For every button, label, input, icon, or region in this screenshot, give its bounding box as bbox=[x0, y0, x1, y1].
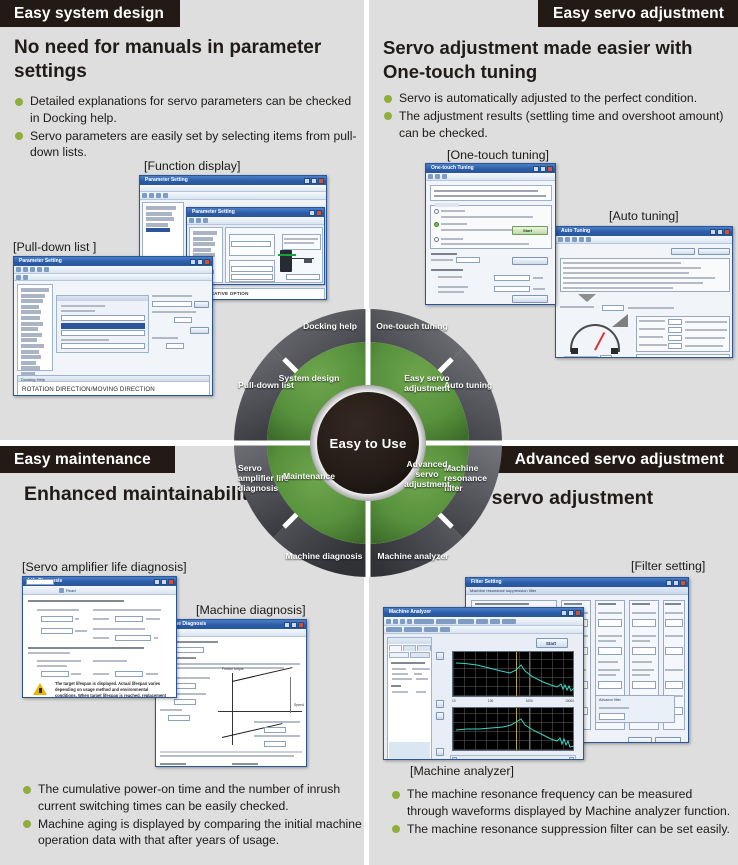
down-triangle-icon bbox=[578, 294, 596, 302]
window-titlebar[interactable]: One-touch Tuning bbox=[426, 164, 555, 173]
pane-titlebar[interactable] bbox=[388, 638, 431, 644]
xtick: 10000 bbox=[565, 699, 574, 703]
docking-help-pane[interactable]: Docking Help ROTATION DIRECTION/MOVING D… bbox=[17, 375, 210, 396]
quadrant-header-advanced-servo-adjustment: Advanced servo adjustment bbox=[488, 446, 738, 473]
friction-positive-field[interactable] bbox=[174, 683, 196, 689]
advance-filter-field[interactable] bbox=[599, 713, 625, 720]
update-project-button[interactable] bbox=[512, 295, 548, 303]
toolbar-icon[interactable] bbox=[142, 193, 147, 198]
filter3-notch-width-field[interactable] bbox=[598, 681, 622, 689]
close-icon[interactable] bbox=[316, 210, 322, 216]
minimize-icon[interactable] bbox=[304, 178, 310, 184]
window-toolbar[interactable] bbox=[140, 192, 326, 200]
screenshot-pull-down-list[interactable]: Parameter Setting bbox=[13, 256, 213, 396]
help-titlebar[interactable]: Docking Help bbox=[18, 376, 209, 382]
settling-time-field[interactable] bbox=[494, 275, 530, 281]
window-title: Parameter Setting bbox=[192, 209, 235, 215]
filter4-setting-field[interactable] bbox=[632, 619, 656, 627]
filter5-notch-freq-field[interactable] bbox=[665, 647, 683, 655]
toolbar-icon[interactable] bbox=[16, 267, 21, 272]
poster-page: Easy system design No need for manuals i… bbox=[0, 0, 738, 865]
toolbar-icon[interactable] bbox=[435, 174, 440, 179]
dialog-titlebar[interactable] bbox=[57, 296, 148, 301]
minimize-icon[interactable] bbox=[309, 210, 315, 216]
screenshot-auto-tuning[interactable]: Auto Tuning bbox=[555, 226, 733, 358]
chart-marker-line bbox=[290, 677, 291, 713]
tab-display[interactable] bbox=[403, 645, 416, 651]
page-title-system-design: No need for manuals in parameter setting… bbox=[14, 36, 344, 85]
dropdown-option[interactable] bbox=[61, 330, 145, 336]
window-body: Docking Help ROTATION DIRECTION/MOVING D… bbox=[14, 281, 212, 396]
start-button[interactable]: Start bbox=[512, 226, 548, 235]
value-field[interactable] bbox=[174, 317, 192, 323]
wheel-svg bbox=[232, 307, 504, 579]
filter5-setting-field[interactable] bbox=[665, 619, 683, 627]
close-icon[interactable] bbox=[547, 166, 553, 172]
cursor-icon[interactable] bbox=[440, 627, 450, 632]
window-title: One-touch Tuning bbox=[431, 165, 474, 171]
parameter-tree-pane[interactable] bbox=[17, 284, 53, 371]
toolbar-icon[interactable] bbox=[572, 237, 577, 242]
list-item: The machine resonance frequency can be m… bbox=[391, 786, 736, 820]
filter4-notch-width-field[interactable] bbox=[632, 681, 656, 689]
gauge-marker-left bbox=[571, 348, 578, 354]
xtick: 1000 bbox=[526, 699, 533, 703]
toolbar-icon[interactable] bbox=[44, 267, 49, 272]
minimize-icon[interactable] bbox=[190, 259, 196, 265]
device-graphic bbox=[304, 258, 312, 263]
quadrant-header-easy-servo-adjustment: Easy servo adjustment bbox=[538, 0, 738, 27]
bullet-list-maintenance: The cumulative power-on time and the num… bbox=[22, 781, 362, 850]
window-titlebar[interactable]: Parameter Setting bbox=[187, 208, 324, 217]
window-titlebar[interactable]: Machine Diagnosis bbox=[156, 620, 306, 629]
start-button-label: Start bbox=[523, 228, 532, 233]
caption-machine-analyzer: [Machine analyzer] bbox=[410, 764, 514, 778]
scale-estimation-icon[interactable] bbox=[404, 627, 422, 632]
dropdown-field[interactable] bbox=[61, 315, 145, 321]
help-heading: ROTATION DIRECTION/MOVING DIRECTION bbox=[22, 386, 155, 393]
value-field[interactable] bbox=[166, 343, 184, 349]
speed-integral-field[interactable] bbox=[668, 343, 682, 349]
page-title-servo-adjustment: Servo adjustment made easier with One-to… bbox=[383, 36, 723, 83]
window-toolbar[interactable]: Read bbox=[23, 586, 176, 595]
toolbar-icon[interactable] bbox=[149, 193, 154, 198]
window-titlebar[interactable]: Parameter Setting bbox=[14, 257, 212, 266]
dropdown-field[interactable] bbox=[61, 343, 145, 349]
filter-subtitle-bar: Machine resonance suppression filter bbox=[466, 587, 688, 595]
maximize-icon[interactable] bbox=[717, 229, 723, 235]
gain-curve bbox=[453, 652, 575, 698]
maximize-icon[interactable] bbox=[673, 580, 679, 586]
window-body: Friction torque Speed bbox=[156, 637, 306, 767]
screenshot-machine-diagnosis[interactable]: Machine Diagnosis Friction bbox=[155, 619, 307, 767]
previous-icon[interactable] bbox=[476, 619, 488, 624]
save-image-icon[interactable] bbox=[407, 619, 412, 624]
key-display-icon[interactable] bbox=[424, 627, 438, 632]
chart-xlabel: Speed bbox=[294, 703, 304, 707]
filter3-notch-freq-field[interactable] bbox=[598, 647, 622, 655]
window-titlebar[interactable]: Machine Analyzer bbox=[384, 608, 583, 617]
radio-basic-mode-selected[interactable] bbox=[434, 222, 439, 227]
close-icon[interactable] bbox=[318, 178, 324, 184]
speed-field[interactable] bbox=[168, 715, 190, 721]
target-lifespan-capacitor-field[interactable] bbox=[115, 616, 143, 622]
gain-graph-xticks: 10 100 1000 10000 bbox=[452, 699, 574, 703]
parameter-display-icon[interactable] bbox=[436, 619, 456, 624]
model-loop-gain-field[interactable] bbox=[668, 319, 682, 325]
minimize-icon[interactable] bbox=[154, 579, 160, 585]
project-tree-pane[interactable] bbox=[142, 202, 184, 257]
close-icon[interactable] bbox=[168, 579, 174, 585]
friction-chart: Friction torque Speed bbox=[218, 673, 304, 749]
toolbar-icon[interactable] bbox=[203, 218, 208, 223]
right-controls bbox=[152, 295, 210, 353]
warning-icon bbox=[33, 683, 47, 695]
zoom-reset-button[interactable] bbox=[436, 712, 444, 720]
zoom-in-button[interactable] bbox=[436, 652, 444, 660]
dropdown-option-selected[interactable] bbox=[61, 323, 145, 329]
advance-filter-label: Advance filter bbox=[599, 698, 621, 702]
window-body: Start bbox=[426, 181, 555, 305]
toolbar-icon[interactable] bbox=[23, 275, 28, 280]
window-toolbar-2[interactable] bbox=[14, 274, 212, 281]
close-icon[interactable] bbox=[680, 580, 686, 586]
toolbar-icon[interactable] bbox=[579, 237, 584, 242]
subtab-frequency-setting[interactable] bbox=[389, 652, 409, 658]
subtab-visualization[interactable] bbox=[410, 652, 430, 658]
settings-footer bbox=[389, 742, 430, 760]
list-item: Detailed explanations for servo paramete… bbox=[14, 93, 359, 127]
toolbar-icon[interactable] bbox=[23, 267, 28, 272]
window-titlebar[interactable]: Parameter Setting bbox=[140, 176, 326, 185]
encoder-output-button[interactable] bbox=[190, 327, 209, 334]
toolbar-icon[interactable] bbox=[30, 267, 35, 272]
maximize-icon[interactable] bbox=[568, 610, 574, 616]
toolbar-icon[interactable] bbox=[442, 174, 447, 179]
import-icon[interactable] bbox=[393, 619, 398, 624]
toolbar-icon[interactable] bbox=[163, 193, 168, 198]
quadrant-header-easy-maintenance: Easy maintenance bbox=[0, 446, 175, 473]
caption-auto-tuning: [Auto tuning] bbox=[609, 209, 679, 223]
caption-pull-down-list: [Pull-down list ] bbox=[13, 240, 96, 254]
filter3-setting-field[interactable] bbox=[598, 619, 622, 627]
toolbar-icon[interactable] bbox=[428, 174, 433, 179]
window-title: Parameter Setting bbox=[19, 258, 62, 264]
tab-setting[interactable] bbox=[389, 645, 402, 651]
instruction-box bbox=[430, 185, 552, 201]
close-icon[interactable] bbox=[204, 259, 210, 265]
cancel-button[interactable] bbox=[655, 737, 681, 743]
maximize-icon[interactable] bbox=[311, 178, 317, 184]
inrush-count-field[interactable] bbox=[41, 671, 69, 677]
easy-to-use-wheel: Docking help One-touch tuning Pull-down … bbox=[232, 307, 504, 579]
toolbar-icon[interactable] bbox=[16, 275, 21, 280]
maximize-icon[interactable] bbox=[540, 166, 546, 172]
zoom-out-button[interactable] bbox=[436, 700, 444, 708]
screenshot-life-diagnosis[interactable]: Life Diagnosis Read bbox=[22, 576, 177, 698]
dropdown-field[interactable] bbox=[231, 274, 273, 280]
error-code-field[interactable] bbox=[456, 257, 480, 263]
window-menubar[interactable] bbox=[140, 185, 326, 192]
gain-graph[interactable] bbox=[452, 651, 574, 697]
overshoot-amount-field[interactable] bbox=[494, 286, 530, 292]
response-field[interactable] bbox=[600, 355, 612, 358]
window-body bbox=[556, 244, 732, 358]
window-toolbar[interactable] bbox=[556, 236, 732, 244]
wheel-center-disc[interactable] bbox=[317, 392, 419, 494]
list-item: The adjustment results (settling time an… bbox=[383, 108, 733, 142]
dropdown-field[interactable] bbox=[231, 241, 271, 247]
caption-filter-setting: [Filter setting] bbox=[631, 559, 705, 573]
axis-select[interactable] bbox=[26, 579, 54, 585]
pulldown-dialog[interactable] bbox=[56, 295, 149, 353]
tab-data-list[interactable] bbox=[417, 645, 431, 651]
screenshot-machine-analyzer[interactable]: Machine Analyzer bbox=[383, 607, 584, 760]
caption-machine-diagnosis: [Machine diagnosis] bbox=[196, 603, 306, 617]
bullet-list-system-design: Detailed explanations for servo paramete… bbox=[14, 93, 359, 162]
window-title: Filter Setting bbox=[471, 579, 502, 585]
phase-graph[interactable] bbox=[452, 707, 574, 751]
param-detail-pane[interactable] bbox=[225, 227, 323, 283]
filter4-notch-freq-field[interactable] bbox=[632, 647, 656, 655]
subtab-strip[interactable] bbox=[389, 652, 430, 658]
dropdown-field[interactable] bbox=[231, 266, 273, 272]
write-button[interactable] bbox=[671, 248, 695, 255]
toolbar-icon[interactable] bbox=[565, 237, 570, 242]
close-icon[interactable] bbox=[575, 610, 581, 616]
minimize-icon[interactable] bbox=[666, 580, 672, 586]
toolbar-icon[interactable] bbox=[586, 237, 591, 242]
screenshot-one-touch-tuning[interactable]: One-touch Tuning bbox=[425, 163, 556, 305]
select-history-icon[interactable] bbox=[458, 619, 474, 624]
list-item: Servo is automatically adjusted to the p… bbox=[383, 90, 733, 107]
xtick: 100 bbox=[488, 699, 493, 703]
horizontal-scrollbar[interactable] bbox=[450, 755, 576, 760]
window-titlebar[interactable]: Filter Setting bbox=[466, 578, 688, 587]
radio-low-mode[interactable] bbox=[434, 237, 439, 242]
maximize-icon[interactable] bbox=[161, 579, 167, 585]
inner-toolbar[interactable] bbox=[187, 217, 324, 225]
tab-strip[interactable] bbox=[389, 645, 431, 651]
ok-button[interactable] bbox=[628, 737, 652, 743]
bullet-list-servo-adjustment: Servo is automatically adjusted to the p… bbox=[383, 90, 733, 142]
filter-subtitle: Machine resonance suppression filter bbox=[470, 588, 536, 593]
power-on-years-field[interactable] bbox=[41, 628, 73, 634]
save-as-icon[interactable] bbox=[400, 619, 405, 624]
window-toolbar[interactable] bbox=[14, 266, 212, 274]
minimize-icon[interactable] bbox=[533, 166, 539, 172]
scroll-button[interactable] bbox=[436, 748, 444, 756]
scroll-right-arrow[interactable] bbox=[569, 757, 574, 761]
toolbar-icon[interactable] bbox=[558, 237, 563, 242]
window-toolbar-2[interactable] bbox=[384, 626, 583, 634]
start-button-label: Start bbox=[546, 641, 556, 646]
coulomb-friction-field[interactable] bbox=[264, 727, 286, 733]
power-on-time-field[interactable] bbox=[41, 616, 73, 622]
chart-ylabel: Friction torque bbox=[222, 667, 244, 671]
filter5-notch-width-field[interactable] bbox=[665, 681, 683, 689]
toolbar-icon[interactable] bbox=[37, 267, 42, 272]
target-lifespan-fan-field[interactable] bbox=[115, 635, 151, 641]
window-toolbar[interactable] bbox=[156, 629, 306, 637]
radio-high-mode[interactable] bbox=[434, 209, 439, 214]
read-icon[interactable] bbox=[59, 588, 64, 593]
update-project-button[interactable] bbox=[698, 248, 730, 255]
caption-life-diagnosis: [Servo amplifier life diagnosis] bbox=[22, 560, 187, 574]
friction-negative-field[interactable] bbox=[264, 741, 286, 747]
minimize-icon[interactable] bbox=[710, 229, 716, 235]
phase-curve bbox=[453, 708, 575, 752]
minimize-icon[interactable] bbox=[284, 622, 290, 628]
phase-setting-button[interactable] bbox=[194, 301, 209, 308]
next-icon[interactable] bbox=[490, 619, 500, 624]
minimize-icon[interactable] bbox=[561, 610, 567, 616]
caption-function-display: [Function display] bbox=[144, 159, 240, 173]
overshoot-group bbox=[636, 354, 730, 358]
comparison-icon[interactable] bbox=[502, 619, 516, 624]
gauge-marker-right bbox=[611, 348, 618, 354]
settings-pane[interactable] bbox=[387, 637, 432, 760]
window-title: Machine Analyzer bbox=[389, 609, 431, 615]
help-title: Docking Help bbox=[21, 377, 45, 382]
list-item: The cumulative power-on time and the num… bbox=[22, 781, 362, 815]
list-item: Machine aging is displayed by comparing … bbox=[22, 816, 362, 850]
window-toolbar-1[interactable] bbox=[384, 617, 583, 626]
wire-green bbox=[278, 254, 296, 256]
friction-torque-field[interactable] bbox=[174, 699, 196, 705]
toolbar-icon[interactable] bbox=[156, 193, 161, 198]
open-icon[interactable] bbox=[386, 619, 391, 624]
maximize-icon[interactable] bbox=[291, 622, 297, 628]
value-field[interactable] bbox=[152, 301, 192, 307]
list-item: Servo parameters are easily set by selec… bbox=[14, 128, 359, 162]
ramp-triangle-icon bbox=[612, 314, 628, 327]
close-icon[interactable] bbox=[298, 622, 304, 628]
window-body: Start 10 100 bbox=[384, 634, 583, 760]
start-button[interactable]: Start bbox=[536, 638, 568, 648]
window-titlebar[interactable]: Auto Tuning bbox=[556, 227, 732, 236]
speed-loop-gain-field[interactable] bbox=[668, 335, 682, 341]
response-level-field[interactable] bbox=[602, 305, 624, 311]
graphic-zoom-icon[interactable] bbox=[386, 627, 402, 632]
xtick: 10 bbox=[452, 699, 456, 703]
dropdown-field[interactable] bbox=[286, 274, 320, 280]
quadrant-header-easy-system-design: Easy system design bbox=[0, 0, 180, 27]
read-label: Read bbox=[66, 588, 76, 593]
window-title: Parameter Setting bbox=[145, 177, 188, 183]
bullet-list-advanced-servo: The machine resonance frequency can be m… bbox=[391, 786, 736, 838]
window-title: Auto Tuning bbox=[561, 228, 590, 234]
window-body: The target lifespan is displayed. Actual… bbox=[23, 595, 176, 698]
position-loop-gain-field[interactable] bbox=[668, 327, 682, 333]
close-icon[interactable] bbox=[724, 229, 730, 235]
list-item: The machine resonance suppression filter… bbox=[391, 821, 736, 838]
caption-one-touch-tuning: [One-touch tuning] bbox=[447, 148, 549, 162]
inrush-target-field[interactable] bbox=[115, 671, 143, 677]
error-code-list-button[interactable] bbox=[512, 257, 548, 265]
toolbar-icon[interactable] bbox=[189, 218, 194, 223]
vibration-management-icon[interactable] bbox=[414, 619, 434, 624]
warning-text: The target lifespan is displayed. Actual… bbox=[55, 681, 170, 698]
window-toolbar[interactable] bbox=[426, 173, 555, 181]
scroll-left-arrow[interactable] bbox=[452, 757, 457, 761]
maximize-icon[interactable] bbox=[197, 259, 203, 265]
toolbar-icon[interactable] bbox=[196, 218, 201, 223]
